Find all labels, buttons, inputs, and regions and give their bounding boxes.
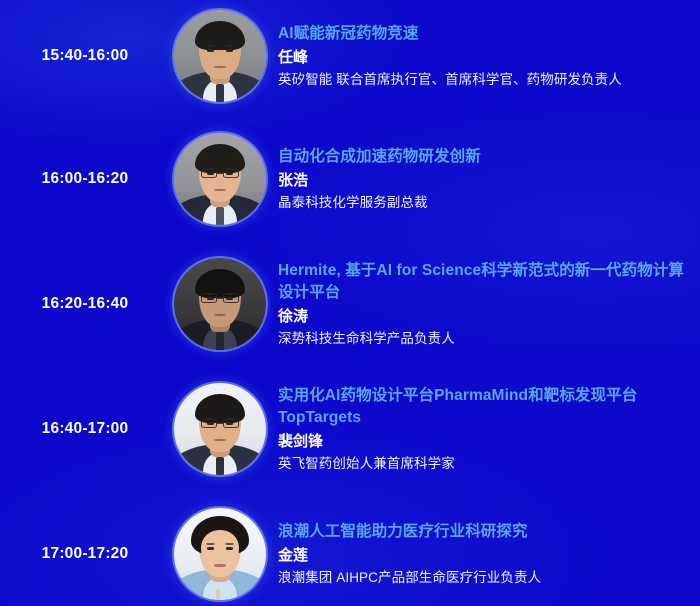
avatar-cell: [170, 133, 270, 225]
agenda-row: 16:40-17:00 实用化AI药物设计平台Pharm: [0, 383, 700, 475]
speaker-name: 徐涛: [278, 306, 686, 328]
agenda-row: 16:20-16:40 Hermite, 基于AI fo: [0, 258, 700, 350]
speaker-name: 裴剑锋: [278, 431, 686, 453]
avatar-brow-right: [225, 543, 234, 545]
speaker-affiliation: 晶泰科技化学服务副总裁: [278, 193, 686, 213]
avatar-tie: [216, 84, 224, 102]
avatar-eye-right: [226, 49, 232, 52]
avatar-mouth: [214, 314, 227, 316]
agenda-row: 15:40-16:00 AI赋能新冠药物竞速 任峰 英矽智能 联合首席执行官、首…: [0, 10, 700, 102]
speaker-avatar: [174, 133, 266, 225]
avatar-brow-left: [206, 543, 215, 545]
session-time: 16:20-16:40: [0, 295, 170, 313]
session-content: 浪潮人工智能助力医疗行业科研探究 金莲 浪潮集团 AIHPC产品部生命医疗行业负…: [270, 521, 700, 587]
session-content: 实用化AI药物设计平台PharmaMind和靶标发现平台TopTargets 裴…: [270, 385, 700, 473]
session-title: Hermite, 基于AI for Science科学新范式的新一代药物计算设计…: [278, 260, 686, 304]
avatar-eye-right: [226, 547, 232, 550]
avatar-brow-right: [225, 45, 234, 47]
speaker-avatar: [174, 383, 266, 475]
avatar-tie: [216, 457, 224, 475]
avatar-mouth: [214, 439, 227, 441]
session-title: 浪潮人工智能助力医疗行业科研探究: [278, 521, 686, 543]
speaker-affiliation: 英飞智药创始人兼首席科学家: [278, 454, 686, 474]
avatar-cell: [170, 10, 270, 102]
speaker-affiliation: 深势科技生命科学产品负责人: [278, 329, 686, 349]
avatar-eye-left: [207, 547, 213, 550]
speaker-name: 金莲: [278, 545, 686, 567]
avatar-mouth: [214, 564, 227, 566]
session-title: AI赋能新冠药物竞速: [278, 23, 686, 45]
speaker-avatar: [174, 10, 266, 102]
session-content: 自动化合成加速药物研发创新 张浩 晶泰科技化学服务副总裁: [270, 146, 700, 212]
agenda-schedule-panel: 15:40-16:00 AI赋能新冠药物竞速 任峰 英矽智能 联合首席执行官、首…: [0, 0, 700, 606]
session-title: 实用化AI药物设计平台PharmaMind和靶标发现平台TopTargets: [278, 385, 686, 429]
avatar-eye-left: [207, 49, 213, 52]
avatar-glasses-icon: [201, 418, 240, 428]
avatar-tie: [216, 207, 224, 225]
avatar-glasses-icon: [201, 293, 240, 303]
speaker-affiliation: 英矽智能 联合首席执行官、首席科学官、药物研发负责人: [278, 70, 686, 90]
avatar-necklace: [216, 589, 221, 600]
speaker-name: 张浩: [278, 170, 686, 192]
avatar-cell: [170, 508, 270, 600]
session-time: 17:00-17:20: [0, 545, 170, 563]
session-title: 自动化合成加速药物研发创新: [278, 146, 686, 168]
session-content: AI赋能新冠药物竞速 任峰 英矽智能 联合首席执行官、首席科学官、药物研发负责人: [270, 23, 700, 89]
avatar-cell: [170, 258, 270, 350]
speaker-affiliation: 浪潮集团 AIHPC产品部生命医疗行业负责人: [278, 568, 686, 588]
avatar-cell: [170, 383, 270, 475]
agenda-row: 17:00-17:20 浪潮人工智能助力医疗行业科研探究 金莲 浪潮集团: [0, 508, 700, 600]
speaker-avatar: [174, 258, 266, 350]
avatar-tie: [216, 332, 224, 350]
agenda-row: 16:00-16:20 自动化合成加速药物研发创新: [0, 133, 700, 225]
session-content: Hermite, 基于AI for Science科学新范式的新一代药物计算设计…: [270, 260, 700, 348]
avatar-mouth: [214, 189, 227, 191]
avatar-glasses-icon: [201, 168, 240, 178]
session-time: 15:40-16:00: [0, 47, 170, 65]
session-time: 16:40-17:00: [0, 420, 170, 438]
avatar-brow-left: [206, 45, 215, 47]
speaker-name: 任峰: [278, 47, 686, 69]
session-time: 16:00-16:20: [0, 170, 170, 188]
speaker-avatar: [174, 508, 266, 600]
avatar-mouth: [214, 66, 227, 68]
